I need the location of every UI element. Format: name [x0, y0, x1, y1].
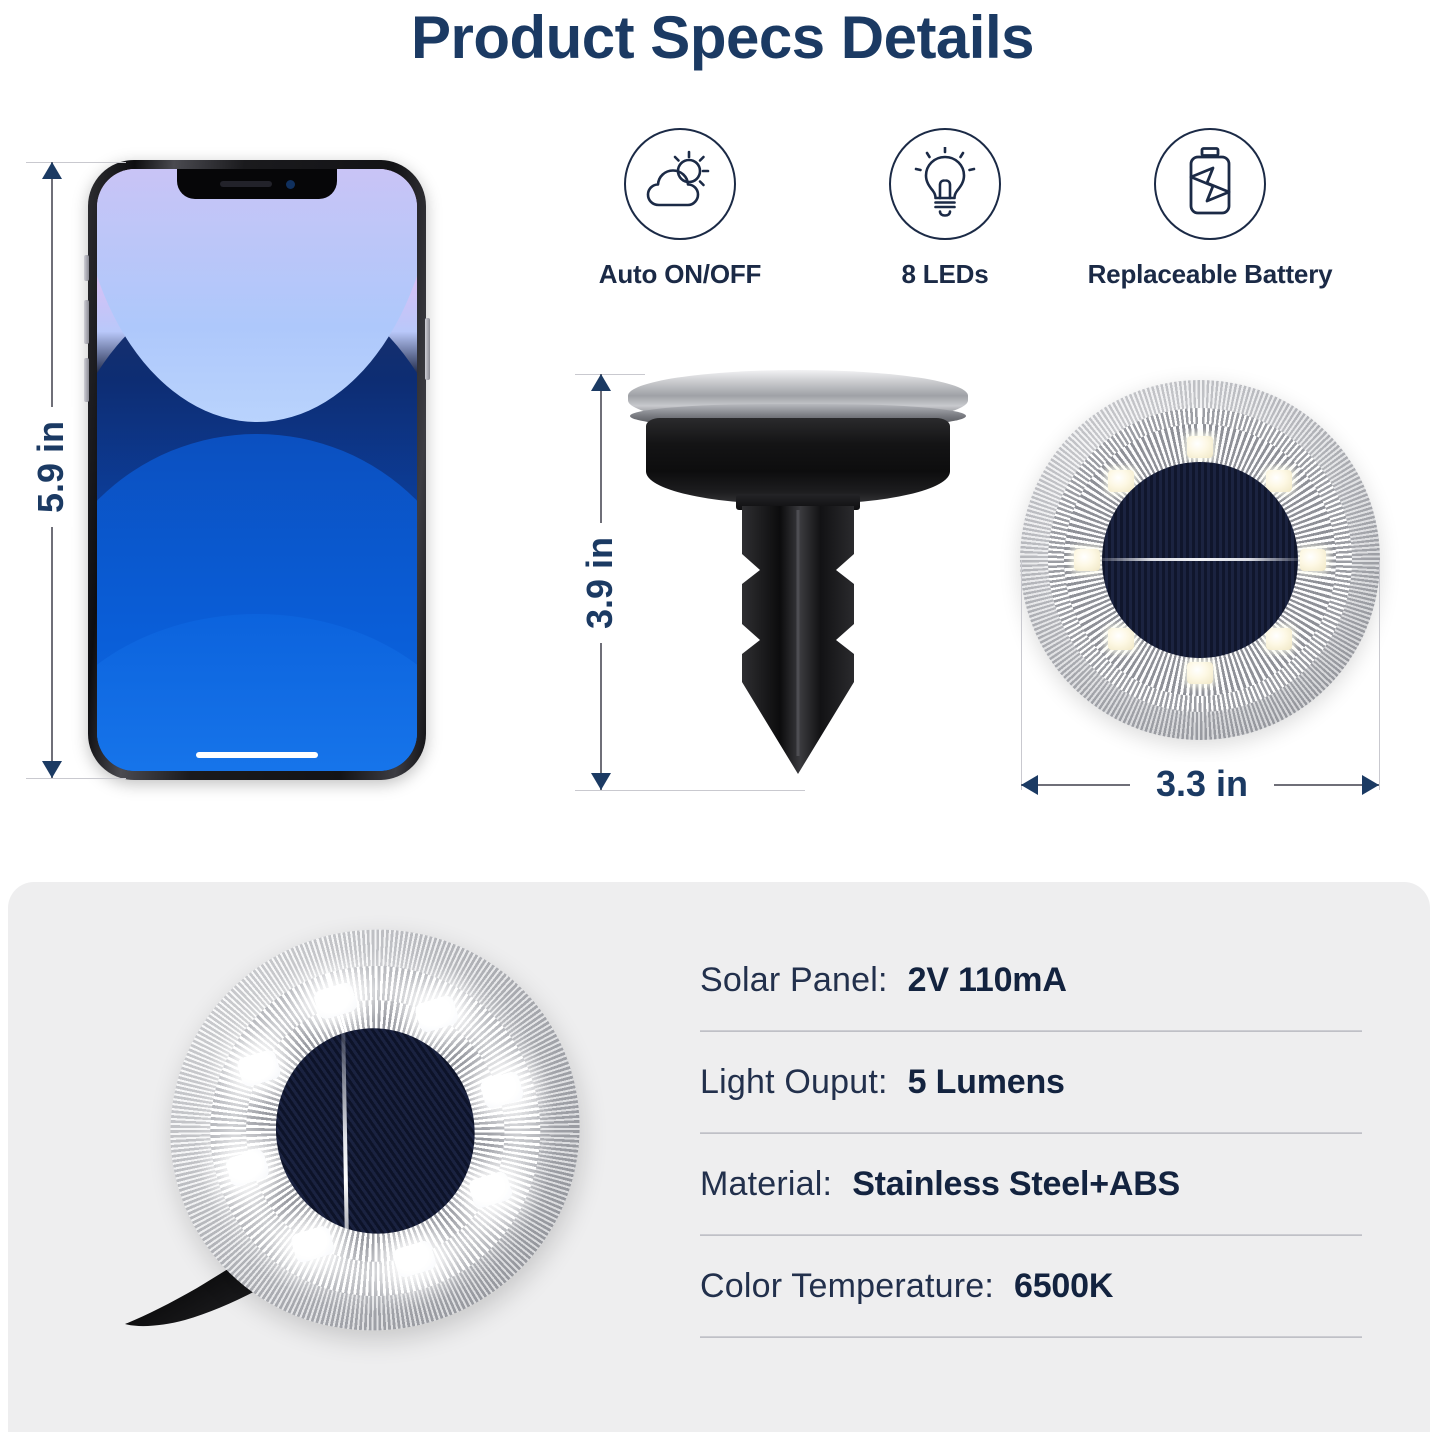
feature-icon-circle	[1154, 128, 1266, 240]
dimension-arrow-left	[1021, 775, 1038, 795]
led-chip	[1108, 470, 1134, 492]
light-housing-body	[646, 418, 950, 504]
feature-list: Auto ON/OFF 8 LEDs	[555, 128, 1335, 290]
led-chip	[1187, 662, 1213, 684]
phone-reference-image	[88, 160, 426, 780]
dimension-label-light-height: 3.9 in	[578, 523, 622, 643]
feature-label: Auto ON/OFF	[599, 259, 761, 290]
dimension-extension-line	[26, 778, 126, 779]
ground-stake	[732, 506, 864, 776]
feature-auto-on-off: Auto ON/OFF	[555, 128, 805, 290]
spec-value: 2V 110mA	[908, 961, 1067, 1000]
dimension-extension-line	[1379, 560, 1380, 790]
feature-replaceable-battery: Replaceable Battery	[1085, 128, 1335, 290]
page-title: Product Specs Details	[0, 2, 1445, 74]
led-chip	[1074, 549, 1100, 571]
spec-label: Material:	[700, 1165, 832, 1204]
home-indicator	[196, 752, 318, 758]
lightbulb-icon	[914, 147, 976, 222]
feature-8-leds: 8 LEDs	[820, 128, 1070, 290]
dimension-label-phone-height: 5.9 in	[29, 407, 73, 527]
spec-label: Light Ouput:	[700, 1063, 888, 1102]
earpiece-speaker-icon	[220, 181, 272, 187]
spec-value: 6500K	[1014, 1267, 1113, 1306]
feature-label: 8 LEDs	[902, 259, 989, 290]
light-top-view-image	[1020, 380, 1380, 740]
led-chip	[1266, 628, 1292, 650]
phone-volume-up-button	[84, 300, 89, 344]
led-chip	[1108, 628, 1134, 650]
dimension-arrow-up	[42, 162, 62, 179]
phone-mute-switch	[84, 255, 89, 281]
dimension-arrow-up	[591, 374, 611, 391]
phone-screen	[97, 169, 417, 771]
spec-value: Stainless Steel+ABS	[852, 1165, 1180, 1204]
spec-table: Solar Panel: 2V 110mA Light Ouput: 5 Lum…	[700, 930, 1362, 1338]
solar-panel-busbar	[341, 1033, 350, 1258]
spec-row: Color Temperature: 6500K	[700, 1236, 1362, 1336]
spec-row: Solar Panel: 2V 110mA	[700, 930, 1362, 1030]
solar-panel	[1102, 462, 1298, 658]
led-chip	[1300, 549, 1326, 571]
phone-volume-down-button	[84, 358, 89, 402]
dimension-extension-line	[26, 162, 126, 163]
dimension-arrow-down	[591, 773, 611, 790]
spec-row: Light Ouput: 5 Lumens	[700, 1032, 1362, 1132]
spec-value: 5 Lumens	[908, 1063, 1065, 1102]
wallpaper-arc	[97, 614, 417, 771]
dimension-extension-line	[575, 790, 805, 791]
light-hero-image	[118, 922, 588, 1372]
spec-label: Color Temperature:	[700, 1267, 994, 1306]
dimension-label-light-diameter: 3.3 in	[1130, 762, 1274, 806]
diffuser-ring-outer	[169, 925, 581, 1337]
battery-bolt-icon	[1182, 147, 1238, 222]
spec-row: Material: Stainless Steel+ABS	[700, 1134, 1362, 1234]
led-chip	[1187, 436, 1213, 458]
feature-icon-circle	[889, 128, 1001, 240]
dimension-arrow-right	[1362, 775, 1379, 795]
dimension-arrow-down	[42, 761, 62, 778]
spec-label: Solar Panel:	[700, 961, 888, 1000]
solar-panel-busbar	[1102, 558, 1298, 561]
front-camera-icon	[286, 180, 295, 189]
dimension-extension-line	[1021, 560, 1022, 790]
spec-divider	[700, 1336, 1362, 1338]
feature-label: Replaceable Battery	[1088, 259, 1333, 290]
led-chip	[1266, 470, 1292, 492]
phone-power-button	[425, 318, 430, 380]
feature-icon-circle	[624, 128, 736, 240]
sun-cloud-icon	[643, 149, 717, 220]
phone-notch	[177, 169, 337, 199]
